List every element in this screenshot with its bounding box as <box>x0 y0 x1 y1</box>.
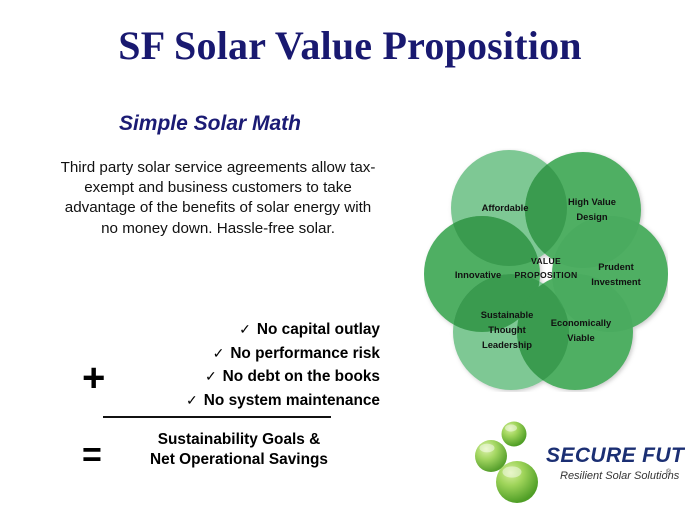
logo-sphere-large-highlight <box>503 466 522 477</box>
list-item-label: No capital outlay <box>257 321 380 338</box>
benefits-list: ✓No capital outlay ✓No performance risk … <box>98 318 380 412</box>
venn-label-prudent-investment-line2: Investment <box>591 276 641 287</box>
venn-label-high-value-design-line2: Design <box>576 211 608 222</box>
list-item: ✓No performance risk <box>98 342 380 366</box>
plus-symbol: + <box>82 358 105 398</box>
venn-label-sustainable-thought-leadership-line1: Sustainable <box>481 309 534 320</box>
solar-math-block: + = ✓No capital outlay ✓No performance r… <box>58 318 378 470</box>
sum-divider-rule <box>103 416 331 418</box>
equals-symbol: = <box>82 438 102 472</box>
venn-label-sustainable-thought-leadership-line2: Thought <box>488 324 525 335</box>
list-item: ✓No capital outlay <box>98 318 380 342</box>
left-content-column: Simple Solar Math Third party solar serv… <box>58 112 378 239</box>
venn-label-affordable: Affordable <box>482 202 529 213</box>
list-item: ✓No system maintenance <box>98 389 380 413</box>
logo-sphere-medium-highlight <box>480 444 495 453</box>
result-line-2: Net Operational Savings <box>98 450 380 470</box>
logo-sphere-small-highlight <box>505 424 517 431</box>
venn-label-sustainable-thought-leadership-line3: Leadership <box>482 339 532 350</box>
slide-canvas: SF Solar Value Proposition Simple Solar … <box>0 0 700 525</box>
value-proposition-diagram: VALUE PROPOSITION Affordable High Value … <box>424 148 668 392</box>
list-item-label: No system maintenance <box>204 392 380 409</box>
venn-center-label-line1: VALUE <box>531 256 561 266</box>
venn-label-high-value-design-line1: High Value <box>568 196 616 207</box>
list-item-label: No debt on the books <box>223 368 380 385</box>
logo-company-name: SECURE FUTURES <box>546 444 685 467</box>
check-icon: ✓ <box>186 392 198 408</box>
section-subtitle: Simple Solar Math <box>42 112 378 136</box>
logo-tagline: Resilient Solar Solutions <box>560 470 680 482</box>
venn-label-economically-viable-line1: Economically <box>551 317 612 328</box>
check-icon: ✓ <box>205 368 217 384</box>
check-icon: ✓ <box>213 345 225 361</box>
logo-registered-mark: ® <box>666 468 672 476</box>
result-line-1: Sustainability Goals & <box>98 430 380 450</box>
venn-center-label-line2: PROPOSITION <box>515 270 578 280</box>
check-icon: ✓ <box>239 321 251 337</box>
secure-futures-logo: SECURE FUTURES Resilient Solar Solutions… <box>470 418 685 510</box>
venn-label-prudent-investment-line1: Prudent <box>598 261 633 272</box>
result-text: Sustainability Goals & Net Operational S… <box>98 430 380 469</box>
venn-label-economically-viable-line2: Viable <box>567 332 594 343</box>
page-title: SF Solar Value Proposition <box>0 24 700 68</box>
venn-label-innovative: Innovative <box>455 269 501 280</box>
intro-paragraph: Third party solar service agreements all… <box>58 158 378 239</box>
list-item: ✓No debt on the books <box>98 365 380 389</box>
list-item-label: No performance risk <box>230 345 380 362</box>
